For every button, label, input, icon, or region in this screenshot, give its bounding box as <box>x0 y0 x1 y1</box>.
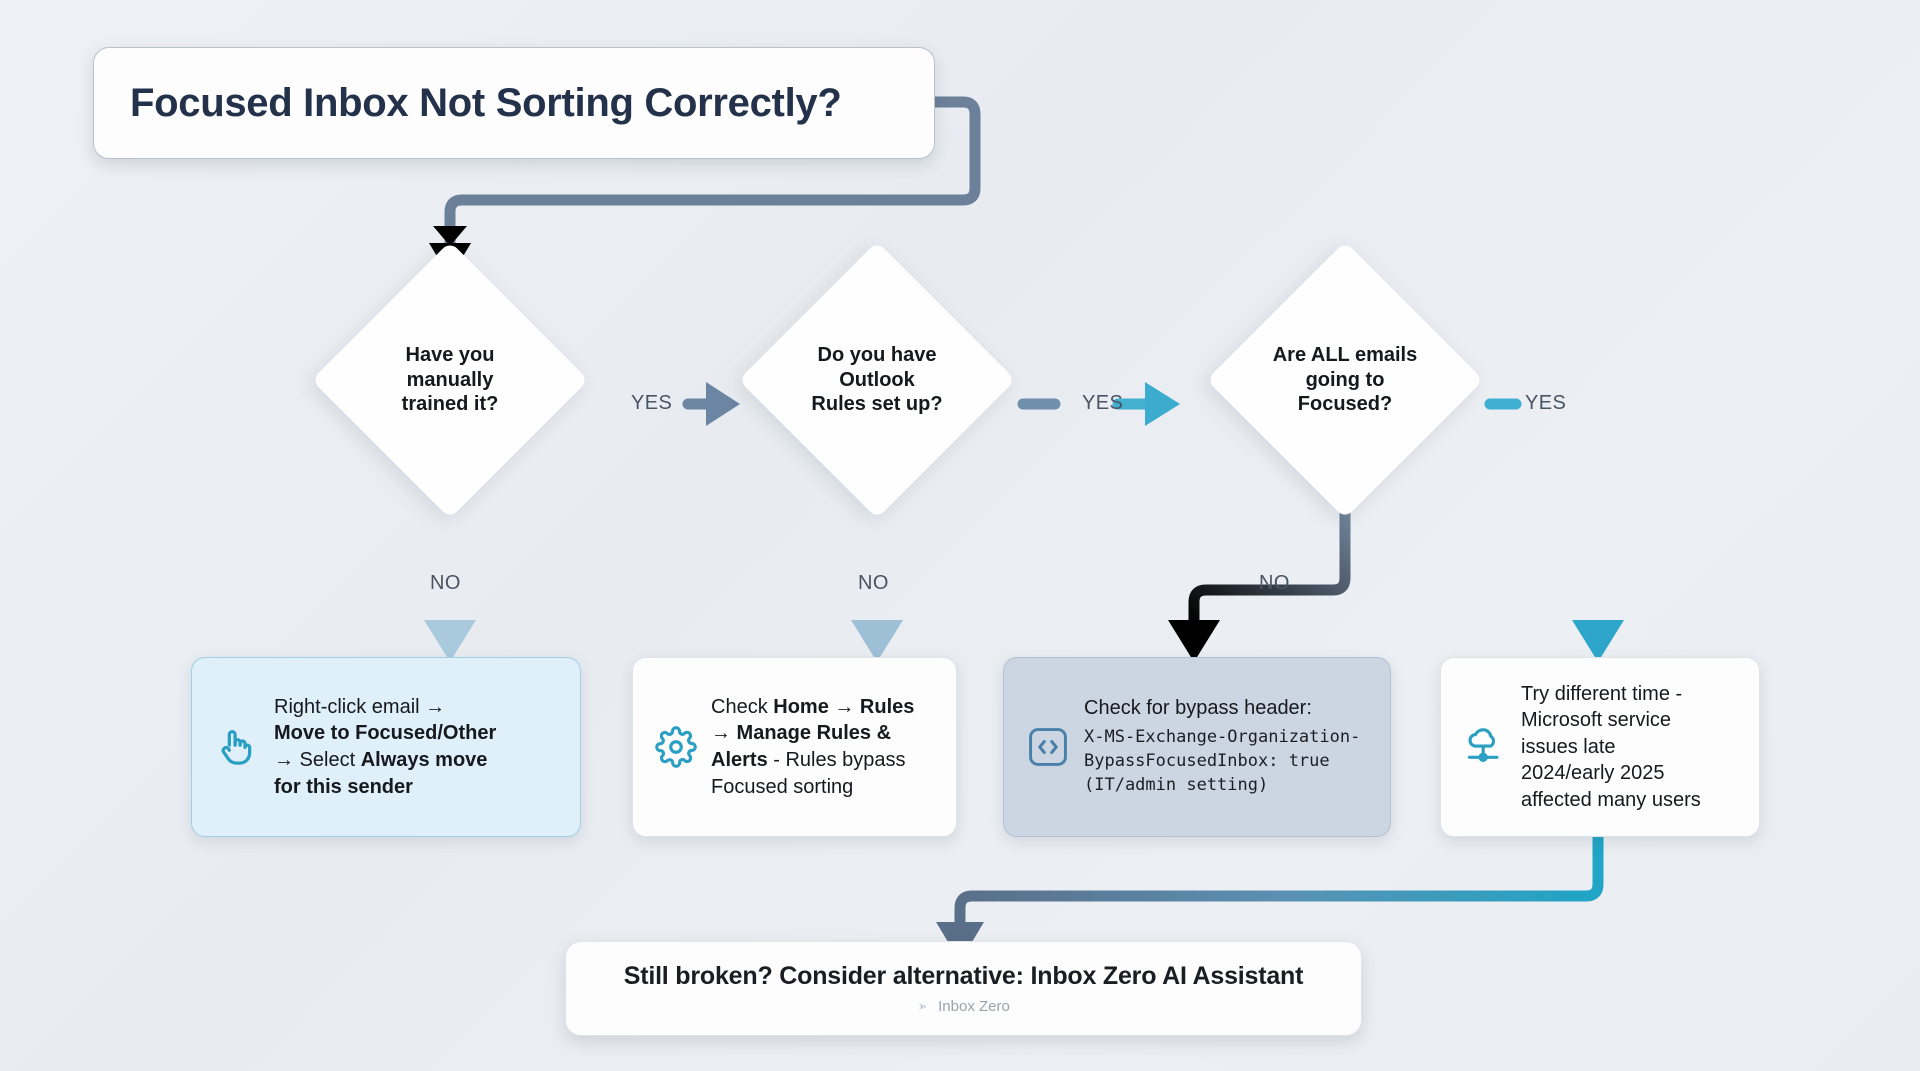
outcome-card-1[interactable]: Right-click email →Move to Focused/Other… <box>191 657 581 837</box>
edge-label-d1-yes: YES <box>631 392 672 415</box>
outcome-card-2[interactable]: Check Home → Rules→ Manage Rules &Alerts… <box>632 657 957 837</box>
diamond-shape <box>311 241 588 518</box>
inbox-zero-logo-icon <box>917 999 932 1014</box>
footer-brand: Inbox Zero <box>917 998 1010 1015</box>
edge-label-d2-yes: YES <box>1082 392 1123 415</box>
edge-label-d1-no: NO <box>430 572 461 595</box>
outcome-text-1: Right-click email →Move to Focused/Other… <box>274 694 512 800</box>
decision-node-2[interactable]: Do you haveOutlookRules set up? <box>727 280 1027 480</box>
page-title: Focused Inbox Not Sorting Correctly? <box>94 81 841 126</box>
outcome-text-3: Check for bypass header: X-MS-Exchange-O… <box>1084 697 1360 797</box>
pointing-hand-icon <box>214 723 260 771</box>
footer-cta-card[interactable]: Still broken? Consider alternative: Inbo… <box>565 941 1362 1036</box>
outcome-heading-3: Check for bypass header: <box>1084 697 1360 720</box>
connector-layer <box>0 0 1920 1071</box>
diamond-shape <box>1206 241 1483 518</box>
edge-label-d2-no: NO <box>858 572 889 595</box>
gear-icon <box>655 726 697 768</box>
outcome-code-3: X-MS-Exchange-Organization-BypassFocused… <box>1084 725 1360 797</box>
flowchart-canvas: Focused Inbox Not Sorting Correctly? Hav… <box>0 0 1920 1071</box>
edge-d3-yes <box>1490 404 1624 662</box>
outcome-card-4[interactable]: Try different time -Microsoft serviceiss… <box>1440 657 1760 837</box>
cloud-network-icon <box>1463 725 1507 769</box>
diamond-shape <box>738 241 1015 518</box>
edge-label-d3-yes: YES <box>1525 392 1566 415</box>
edge-label-d3-no: NO <box>1259 572 1290 595</box>
edge-d3-no <box>1168 478 1345 662</box>
decision-node-3[interactable]: Are ALL emailsgoing toFocused? <box>1195 280 1495 480</box>
code-brackets-icon <box>1026 725 1070 769</box>
title-card: Focused Inbox Not Sorting Correctly? <box>93 47 935 159</box>
outcome-card-3[interactable]: Check for bypass header: X-MS-Exchange-O… <box>1003 657 1391 837</box>
outcome-text-2: Check Home → Rules→ Manage Rules &Alerts… <box>711 694 930 800</box>
decision-node-1[interactable]: Have youmanuallytrained it? <box>300 280 600 480</box>
outcome-text-4: Try different time -Microsoft serviceiss… <box>1521 681 1717 814</box>
footer-brand-name: Inbox Zero <box>938 998 1010 1015</box>
footer-text: Still broken? Consider alternative: Inbo… <box>624 962 1304 991</box>
